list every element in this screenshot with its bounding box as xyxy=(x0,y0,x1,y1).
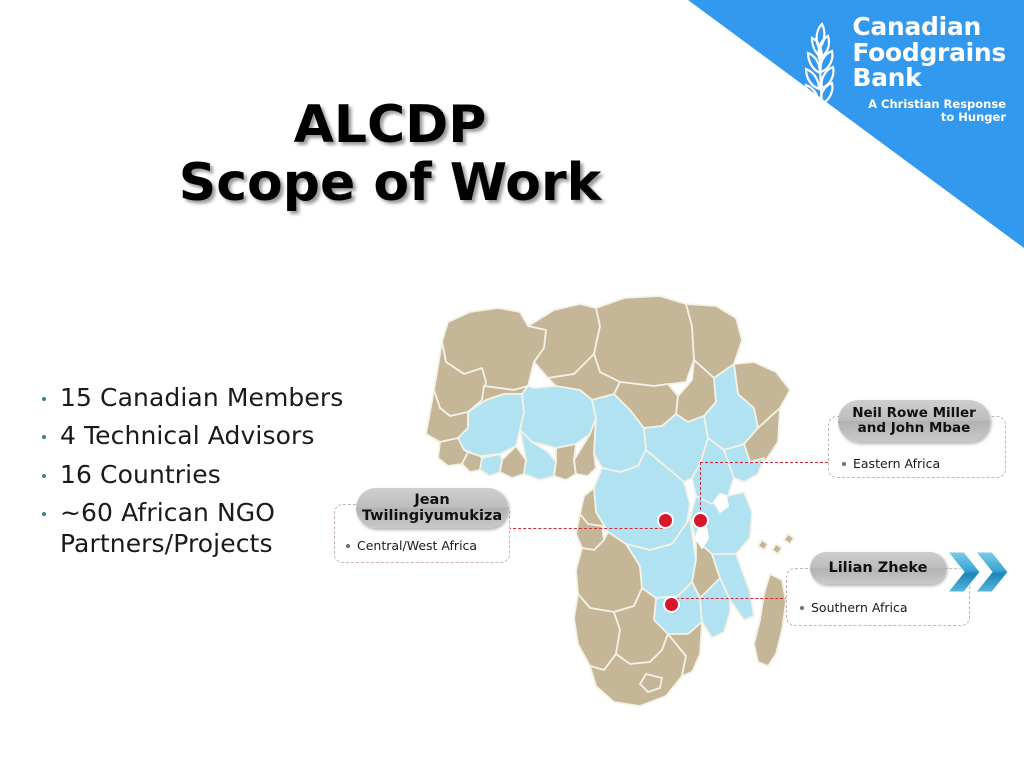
person-name-line-1: Neil Rowe Miller xyxy=(852,406,976,421)
callout-southern-region: Southern Africa xyxy=(800,600,907,615)
region-dot-icon xyxy=(800,606,804,610)
callout-southern[interactable]: Lilian Zheke Southern Africa xyxy=(786,552,970,628)
connector-eastern-vertical xyxy=(700,462,701,520)
callout-eastern[interactable]: Neil Rowe Miller and John Mbae Eastern A… xyxy=(828,400,1006,480)
double-chevron-right-icon xyxy=(946,548,1016,596)
person-name-line-1: Jean xyxy=(362,492,502,508)
bullet-dot-icon xyxy=(42,397,46,401)
list-item: 16 Countries xyxy=(34,459,364,490)
person-name-line-1: Lilian Zheke xyxy=(828,560,927,576)
connector-eastern xyxy=(700,462,828,463)
list-item: 15 Canadian Members xyxy=(34,382,364,413)
bullet-dot-icon xyxy=(42,512,46,516)
page-title: ALCDP Scope of Work xyxy=(60,96,720,212)
region-dot-icon xyxy=(842,462,846,466)
list-item: 4 Technical Advisors xyxy=(34,420,364,451)
title-line-1: ALCDP xyxy=(60,96,720,154)
list-item: ~60 African NGO Partners/Projects xyxy=(34,497,364,560)
slide-canvas: Canadian Foodgrains Bank A Christian Res… xyxy=(0,0,1024,768)
logo-word-2: Foodgrains xyxy=(852,40,1006,66)
wheat-stalk-icon xyxy=(792,18,844,140)
logo-tagline: A Christian Response to Hunger xyxy=(852,98,1006,125)
bullet-label: 4 Technical Advisors xyxy=(60,420,315,451)
region-label: Central/West Africa xyxy=(357,538,477,553)
bullet-label: ~60 African NGO Partners/Projects xyxy=(60,497,364,560)
bullet-dot-icon xyxy=(42,474,46,478)
logo-word-3: Bank xyxy=(852,65,1006,91)
connector-southern xyxy=(671,598,798,599)
brand-logo: Canadian Foodgrains Bank A Christian Res… xyxy=(792,14,1006,140)
person-name-line-2: Twilingiyumukiza xyxy=(362,508,502,524)
callout-southern-person[interactable]: Lilian Zheke xyxy=(810,552,946,584)
callout-central-west[interactable]: Jean Twilingiyumukiza Central/West Afric… xyxy=(334,488,510,563)
connector-central-west xyxy=(508,528,668,529)
region-dot-icon xyxy=(346,544,350,548)
logo-word-1: Canadian xyxy=(852,14,1006,40)
callout-central-west-region: Central/West Africa xyxy=(346,538,477,553)
logo-tagline-line-1: A Christian Response xyxy=(852,98,1006,112)
region-label: Southern Africa xyxy=(811,600,907,615)
bullet-label: 16 Countries xyxy=(60,459,221,490)
callout-eastern-person[interactable]: Neil Rowe Miller and John Mbae xyxy=(838,400,990,442)
logo-tagline-line-2: to Hunger xyxy=(852,111,1006,125)
marker-central-west-africa xyxy=(659,514,672,527)
person-name-line-2: and John Mbae xyxy=(852,421,976,436)
marker-eastern-africa xyxy=(694,514,707,527)
scope-bullet-list: 15 Canadian Members 4 Technical Advisors… xyxy=(34,382,364,566)
marker-southern-africa xyxy=(665,598,678,611)
title-line-2: Scope of Work xyxy=(60,154,720,212)
bullet-label: 15 Canadian Members xyxy=(60,382,343,413)
callout-eastern-region: Eastern Africa xyxy=(842,456,940,471)
callout-central-west-person[interactable]: Jean Twilingiyumukiza xyxy=(356,488,508,528)
bullet-dot-icon xyxy=(42,435,46,439)
region-label: Eastern Africa xyxy=(853,456,940,471)
